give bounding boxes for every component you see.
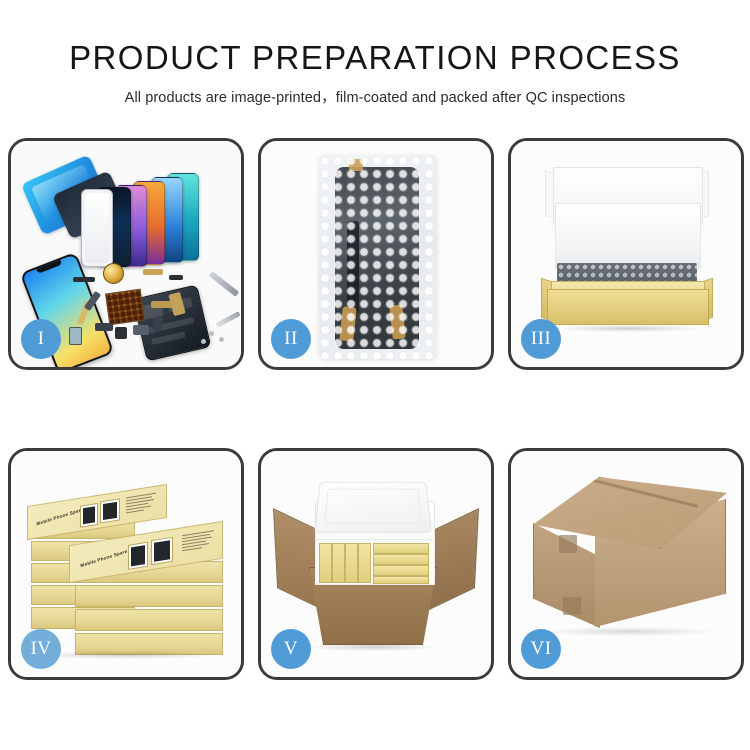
stacked-boxes-icon: Mobile Phone Spare Parts Mobile Phone Sp… [17,475,231,657]
step-badge-3: III [521,319,561,359]
phone-screen-fan [93,175,213,277]
step-badge-1: I [21,319,61,359]
bubble-wrap-bag-icon [319,155,437,359]
header: PRODUCT PREPARATION PROCESS All products… [0,38,750,109]
product-preparation-process-page: PRODUCT PREPARATION PROCESS All products… [0,0,750,750]
chip-array-icon [105,289,145,326]
step-badge-5: V [271,629,311,669]
sealed-carton-icon [533,477,725,649]
step-panel-2[interactable]: II [258,138,494,370]
step-panel-4[interactable]: Mobile Phone Spare Parts Mobile Phone Sp… [8,448,244,680]
step-panel-1[interactable]: I [8,138,244,370]
step-panel-3[interactable]: III [508,138,744,370]
step-badge-4: IV [21,629,61,669]
open-carton-icon [275,471,477,657]
yellow-box-tray [547,289,709,325]
foam-insert [555,203,701,269]
step-panel-6[interactable]: VI [508,448,744,680]
step-badge-2: II [271,319,311,359]
carton-tape-upper [559,535,577,553]
page-title: PRODUCT PREPARATION PROCESS [0,38,750,78]
carton-tape-lower [563,597,581,615]
speaker-module-icon [103,263,124,284]
step-panel-5[interactable]: V [258,448,494,680]
step-badge-6: VI [521,629,561,669]
yellow-boxes-inside [319,541,429,581]
process-steps-grid: I II [8,138,744,680]
open-foam-box-icon [541,163,713,341]
styrofoam-lid [314,482,432,533]
page-subtitle: All products are image-printed，film-coat… [0,87,750,109]
